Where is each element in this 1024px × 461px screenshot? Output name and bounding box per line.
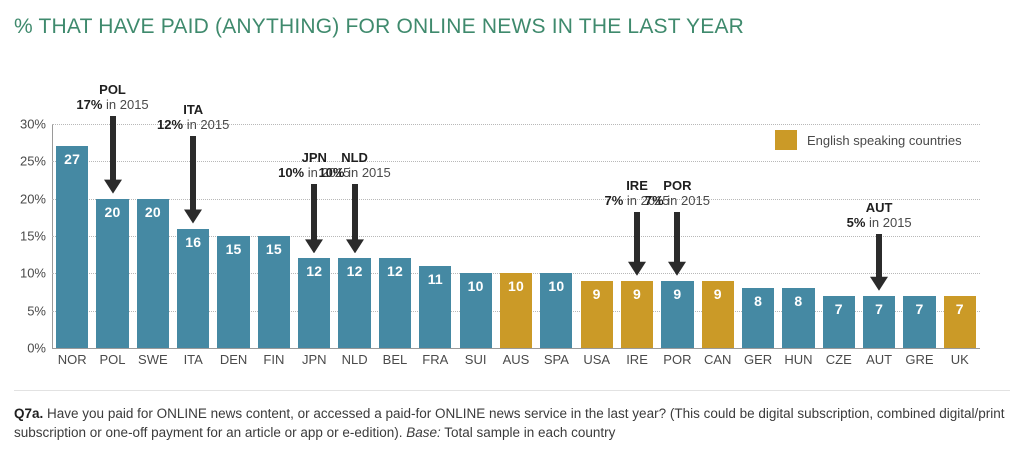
annotation-previous-year: in 2015 xyxy=(344,165,390,180)
x-tick-label-nor: NOR xyxy=(52,352,92,367)
x-tick-label-pol: POL xyxy=(92,352,132,367)
y-tick-label: 10% xyxy=(2,266,46,281)
annotation-previous-year: in 2015 xyxy=(664,193,710,208)
bar-fin[interactable]: 15 xyxy=(258,236,290,348)
bar-value-label: 12 xyxy=(338,263,370,279)
x-tick-label-jpn: JPN xyxy=(294,352,334,367)
bar-value-label: 12 xyxy=(298,263,330,279)
bar-slot: 10 xyxy=(500,124,532,348)
bar-value-label: 9 xyxy=(621,286,653,302)
annotation-nld: NLD10% in 2015 xyxy=(318,150,390,181)
x-tick-label-aut: AUT xyxy=(859,352,899,367)
annotation-previous-year: in 2015 xyxy=(102,97,148,112)
annotation-arrow-pol xyxy=(103,116,123,194)
bar-usa[interactable]: 9 xyxy=(581,281,613,348)
x-tick-label-fra: FRA xyxy=(415,352,455,367)
x-tick-label-can: CAN xyxy=(698,352,738,367)
bar-ger[interactable]: 8 xyxy=(742,288,774,348)
y-tick-label: 5% xyxy=(2,303,46,318)
bar-slot: 9 xyxy=(581,124,613,348)
bar-fra[interactable]: 11 xyxy=(419,266,451,348)
y-tick-label: 15% xyxy=(2,229,46,244)
bar-slot: 7 xyxy=(903,124,935,348)
annotation-previous-value: 12% in 2015 xyxy=(157,117,229,133)
footnote-base-value: Total sample in each country xyxy=(441,425,616,440)
bar-jpn[interactable]: 12 xyxy=(298,258,330,348)
x-tick-label-uk: UK xyxy=(940,352,980,367)
bar-value-label: 16 xyxy=(177,234,209,250)
annotation-previous-value: 17% in 2015 xyxy=(76,97,148,113)
x-tick-label-nld: NLD xyxy=(334,352,374,367)
annotation-country-label: ITA xyxy=(157,102,229,117)
x-tick-label-sui: SUI xyxy=(455,352,495,367)
bar-can[interactable]: 9 xyxy=(702,281,734,348)
bar-slot: 8 xyxy=(782,124,814,348)
x-axis-labels: NORPOLSWEITADENFINJPNNLDBELFRASUIAUSSPAU… xyxy=(52,352,980,378)
bar-cze[interactable]: 7 xyxy=(823,296,855,348)
footnote: Q7a. Have you paid for ONLINE news conte… xyxy=(14,404,1014,442)
x-tick-label-spa: SPA xyxy=(536,352,576,367)
annotation-pol: POL17% in 2015 xyxy=(76,82,148,113)
bar-value-label: 11 xyxy=(419,271,451,287)
annotation-country-label: POL xyxy=(76,82,148,97)
annotation-arrow-por xyxy=(667,212,687,276)
annotation-por: POR7% in 2015 xyxy=(645,178,710,209)
annotation-previous-percent: 12% xyxy=(157,117,183,132)
x-tick-label-ita: ITA xyxy=(173,352,213,367)
annotation-previous-year: in 2015 xyxy=(183,117,229,132)
y-tick-label: 20% xyxy=(2,191,46,206)
bar-value-label: 9 xyxy=(581,286,613,302)
x-tick-label-bel: BEL xyxy=(375,352,415,367)
x-tick-label-den: DEN xyxy=(213,352,253,367)
bar-slot: 11 xyxy=(419,124,451,348)
bar-aus[interactable]: 10 xyxy=(500,273,532,348)
annotation-arrow-ire xyxy=(627,212,647,276)
annotation-arrow-nld xyxy=(345,184,365,253)
bar-pol[interactable]: 20 xyxy=(96,199,128,348)
bar-value-label: 10 xyxy=(460,278,492,294)
bar-slot: 8 xyxy=(742,124,774,348)
bar-value-label: 27 xyxy=(56,151,88,167)
bar-slot: 10 xyxy=(460,124,492,348)
footnote-question-id: Q7a. xyxy=(14,406,43,421)
x-tick-label-cze: CZE xyxy=(819,352,859,367)
annotation-country-label: POR xyxy=(645,178,710,193)
y-axis-labels: 0%5%10%15%20%25%30% xyxy=(0,124,46,348)
x-tick-label-aus: AUS xyxy=(496,352,536,367)
bar-value-label: 12 xyxy=(379,263,411,279)
bar-slot: 7 xyxy=(944,124,976,348)
legend: English speaking countries xyxy=(775,130,962,150)
bar-slot: 27 xyxy=(56,124,88,348)
bar-slot: 15 xyxy=(217,124,249,348)
annotation-previous-percent: 5% xyxy=(847,215,866,230)
bar-value-label: 10 xyxy=(540,278,572,294)
x-tick-label-ger: GER xyxy=(738,352,778,367)
annotation-country-label: NLD xyxy=(318,150,390,165)
bar-value-label: 20 xyxy=(137,204,169,220)
bar-sui[interactable]: 10 xyxy=(460,273,492,348)
bar-value-label: 7 xyxy=(863,301,895,317)
annotation-previous-percent: 17% xyxy=(76,97,102,112)
bar-value-label: 7 xyxy=(944,301,976,317)
bar-slot: 20 xyxy=(137,124,169,348)
bar-por[interactable]: 9 xyxy=(661,281,693,348)
bar-nor[interactable]: 27 xyxy=(56,146,88,348)
bar-value-label: 9 xyxy=(661,286,693,302)
annotation-ita: ITA12% in 2015 xyxy=(157,102,229,133)
bar-value-label: 20 xyxy=(96,204,128,220)
y-tick-label: 0% xyxy=(2,341,46,356)
x-tick-label-swe: SWE xyxy=(133,352,173,367)
bar-slot: 9 xyxy=(702,124,734,348)
bar-uk[interactable]: 7 xyxy=(944,296,976,348)
bar-nld[interactable]: 12 xyxy=(338,258,370,348)
annotation-previous-year: in 2015 xyxy=(865,215,911,230)
annotation-previous-value: 5% in 2015 xyxy=(847,215,912,231)
annotation-country-label: AUT xyxy=(847,200,912,215)
bar-value-label: 9 xyxy=(702,286,734,302)
footnote-base-label: Base: xyxy=(406,425,441,440)
legend-label-english-speaking: English speaking countries xyxy=(807,133,962,148)
annotation-arrow-aut xyxy=(869,234,889,291)
x-tick-label-ire: IRE xyxy=(617,352,657,367)
x-tick-label-por: POR xyxy=(657,352,697,367)
bar-ire[interactable]: 9 xyxy=(621,281,653,348)
bar-den[interactable]: 15 xyxy=(217,236,249,348)
bar-value-label: 10 xyxy=(500,278,532,294)
bar-ita[interactable]: 16 xyxy=(177,229,209,348)
legend-swatch-english-speaking xyxy=(775,130,797,150)
annotation-previous-percent: 10% xyxy=(278,165,304,180)
gridline xyxy=(52,348,980,349)
annotation-previous-value: 7% in 2015 xyxy=(645,193,710,209)
bar-value-label: 8 xyxy=(782,293,814,309)
bar-spa[interactable]: 10 xyxy=(540,273,572,348)
annotation-previous-value: 10% in 2015 xyxy=(318,165,390,181)
x-tick-label-fin: FIN xyxy=(254,352,294,367)
annotation-arrow-ita xyxy=(183,136,203,224)
page-title: % THAT HAVE PAID (ANYTHING) FOR ONLINE N… xyxy=(14,15,744,39)
x-tick-label-gre: GRE xyxy=(899,352,939,367)
bar-gre[interactable]: 7 xyxy=(903,296,935,348)
footer-divider xyxy=(14,390,1010,391)
y-tick-label: 30% xyxy=(2,117,46,132)
annotation-previous-percent: 10% xyxy=(318,165,344,180)
x-tick-label-hun: HUN xyxy=(778,352,818,367)
bar-value-label: 8 xyxy=(742,293,774,309)
annotation-arrow-jpn xyxy=(304,184,324,253)
bar-swe[interactable]: 20 xyxy=(137,199,169,348)
bar-value-label: 7 xyxy=(823,301,855,317)
annotation-previous-percent: 7% xyxy=(605,193,624,208)
bar-slot: 10 xyxy=(540,124,572,348)
bar-value-label: 15 xyxy=(258,241,290,257)
bar-chart: 0%5%10%15%20%25%30% 27202016151512121211… xyxy=(0,60,1024,380)
annotation-previous-percent: 7% xyxy=(645,193,664,208)
annotation-aut: AUT5% in 2015 xyxy=(847,200,912,231)
bar-value-label: 7 xyxy=(903,301,935,317)
bar-slot: 7 xyxy=(823,124,855,348)
bar-bel[interactable]: 12 xyxy=(379,258,411,348)
y-tick-label: 25% xyxy=(2,154,46,169)
bar-aut[interactable]: 7 xyxy=(863,296,895,348)
x-tick-label-usa: USA xyxy=(577,352,617,367)
bar-value-label: 15 xyxy=(217,241,249,257)
bar-hun[interactable]: 8 xyxy=(782,288,814,348)
